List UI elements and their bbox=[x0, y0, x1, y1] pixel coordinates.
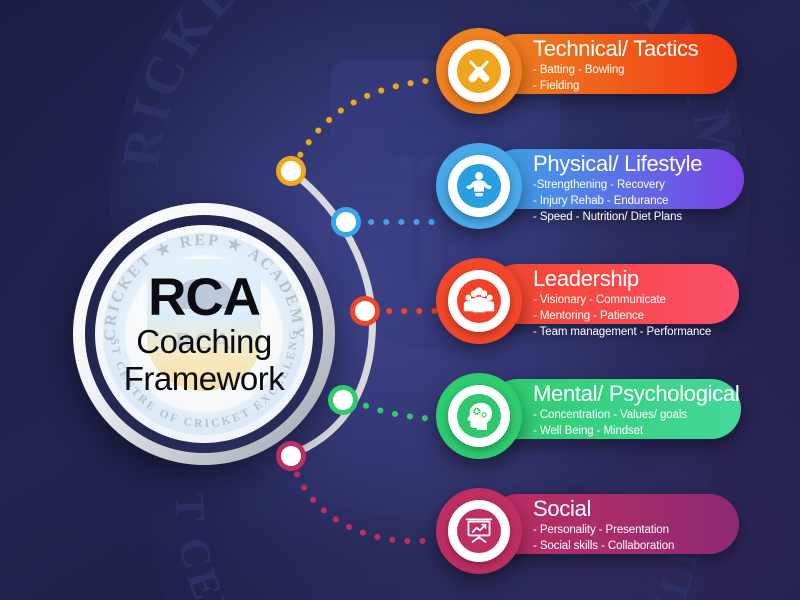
connector-node-leadership[interactable] bbox=[355, 301, 375, 321]
card-pill-physical[interactable]: Physical/ Lifestyle-Strengthening - Reco… bbox=[488, 149, 744, 209]
card-subline-leadership-1: - Mentoring - Patience bbox=[533, 309, 725, 324]
connector-node-technical[interactable] bbox=[281, 161, 301, 181]
card-subline-leadership-2: - Team management - Performance bbox=[533, 325, 725, 340]
card-badge-physical[interactable] bbox=[436, 143, 522, 229]
card-text-leadership: Leadership- Visionary - Communicate- Men… bbox=[533, 267, 725, 340]
card-subline-social-1: - Social skills - Collaboration bbox=[533, 539, 725, 554]
card-pill-mental[interactable]: Mental/ Psychological- Concentration - V… bbox=[488, 379, 741, 439]
card-pill-social[interactable]: Social- Personality - Presentation- Soci… bbox=[488, 494, 739, 554]
card-subline-mental-1: - Well Being - Mindset bbox=[533, 424, 727, 439]
card-badge-social[interactable] bbox=[436, 488, 522, 574]
card-text-social: Social- Personality - Presentation- Soci… bbox=[533, 497, 725, 554]
card-title-leadership: Leadership bbox=[533, 267, 725, 292]
center-medallion: RCA CRICKET ★ REP ★ ACADEMY BEST CENTRE … bbox=[73, 203, 335, 465]
center-title-line2: Coaching bbox=[136, 324, 271, 361]
card-badge-leadership[interactable] bbox=[436, 258, 522, 344]
card-badge-mental[interactable] bbox=[436, 373, 522, 459]
dotted-link-social bbox=[292, 460, 436, 541]
card-subline-social-0: - Personality - Presentation bbox=[533, 523, 725, 538]
group-of-people-icon bbox=[448, 270, 510, 332]
connector-node-physical[interactable] bbox=[336, 212, 356, 232]
center-title-line1: RCA bbox=[148, 271, 260, 324]
card-title-social: Social bbox=[533, 497, 725, 522]
card-title-mental: Mental/ Psychological bbox=[533, 382, 727, 407]
presentation-chart-icon bbox=[448, 500, 510, 562]
center-title-block: RCA Coaching Framework bbox=[95, 225, 313, 443]
card-title-physical: Physical/ Lifestyle bbox=[533, 152, 730, 177]
center-medallion-face: RCA CRICKET ★ REP ★ ACADEMY BEST CENTRE … bbox=[95, 225, 313, 443]
card-title-technical: Technical/ Tactics bbox=[533, 37, 723, 62]
card-pill-technical[interactable]: Technical/ Tactics- Batting - Bowling- F… bbox=[488, 34, 737, 94]
card-subline-physical-2: - Speed - Nutrition/ Diet Plans bbox=[533, 210, 730, 225]
muscle-flex-icon bbox=[448, 155, 510, 217]
card-subline-technical-1: - Fielding bbox=[533, 79, 723, 94]
dotted-link-mental bbox=[352, 400, 436, 419]
card-subline-physical-1: - Injury Rehab - Endurance bbox=[533, 194, 730, 209]
card-text-technical: Technical/ Tactics- Batting - Bowling- F… bbox=[533, 37, 723, 94]
card-badge-technical[interactable] bbox=[436, 28, 522, 114]
infographic-canvas: CRICKET ★ REP ★ ACADEMY RCA BEST CENTRE … bbox=[0, 0, 800, 600]
crossed-cricket-bats-icon bbox=[448, 40, 510, 102]
card-pill-leadership[interactable]: Leadership- Visionary - Communicate- Men… bbox=[488, 264, 739, 324]
card-subline-mental-0: - Concentration - Values/ goals bbox=[533, 408, 727, 423]
card-subline-technical-0: - Batting - Bowling bbox=[533, 63, 723, 78]
center-medallion-ring: RCA CRICKET ★ REP ★ ACADEMY BEST CENTRE … bbox=[85, 215, 323, 453]
center-title-line3: Framework bbox=[124, 361, 285, 398]
card-subline-physical-0: -Strengthening - Recovery bbox=[533, 178, 730, 193]
card-text-physical: Physical/ Lifestyle-Strengthening - Reco… bbox=[533, 152, 730, 225]
head-with-gears-icon bbox=[448, 385, 510, 447]
connector-node-social[interactable] bbox=[281, 446, 301, 466]
connector-node-mental[interactable] bbox=[333, 390, 353, 410]
card-subline-leadership-0: - Visionary - Communicate bbox=[533, 293, 725, 308]
dotted-link-technical bbox=[293, 80, 436, 168]
card-text-mental: Mental/ Psychological- Concentration - V… bbox=[533, 382, 727, 439]
